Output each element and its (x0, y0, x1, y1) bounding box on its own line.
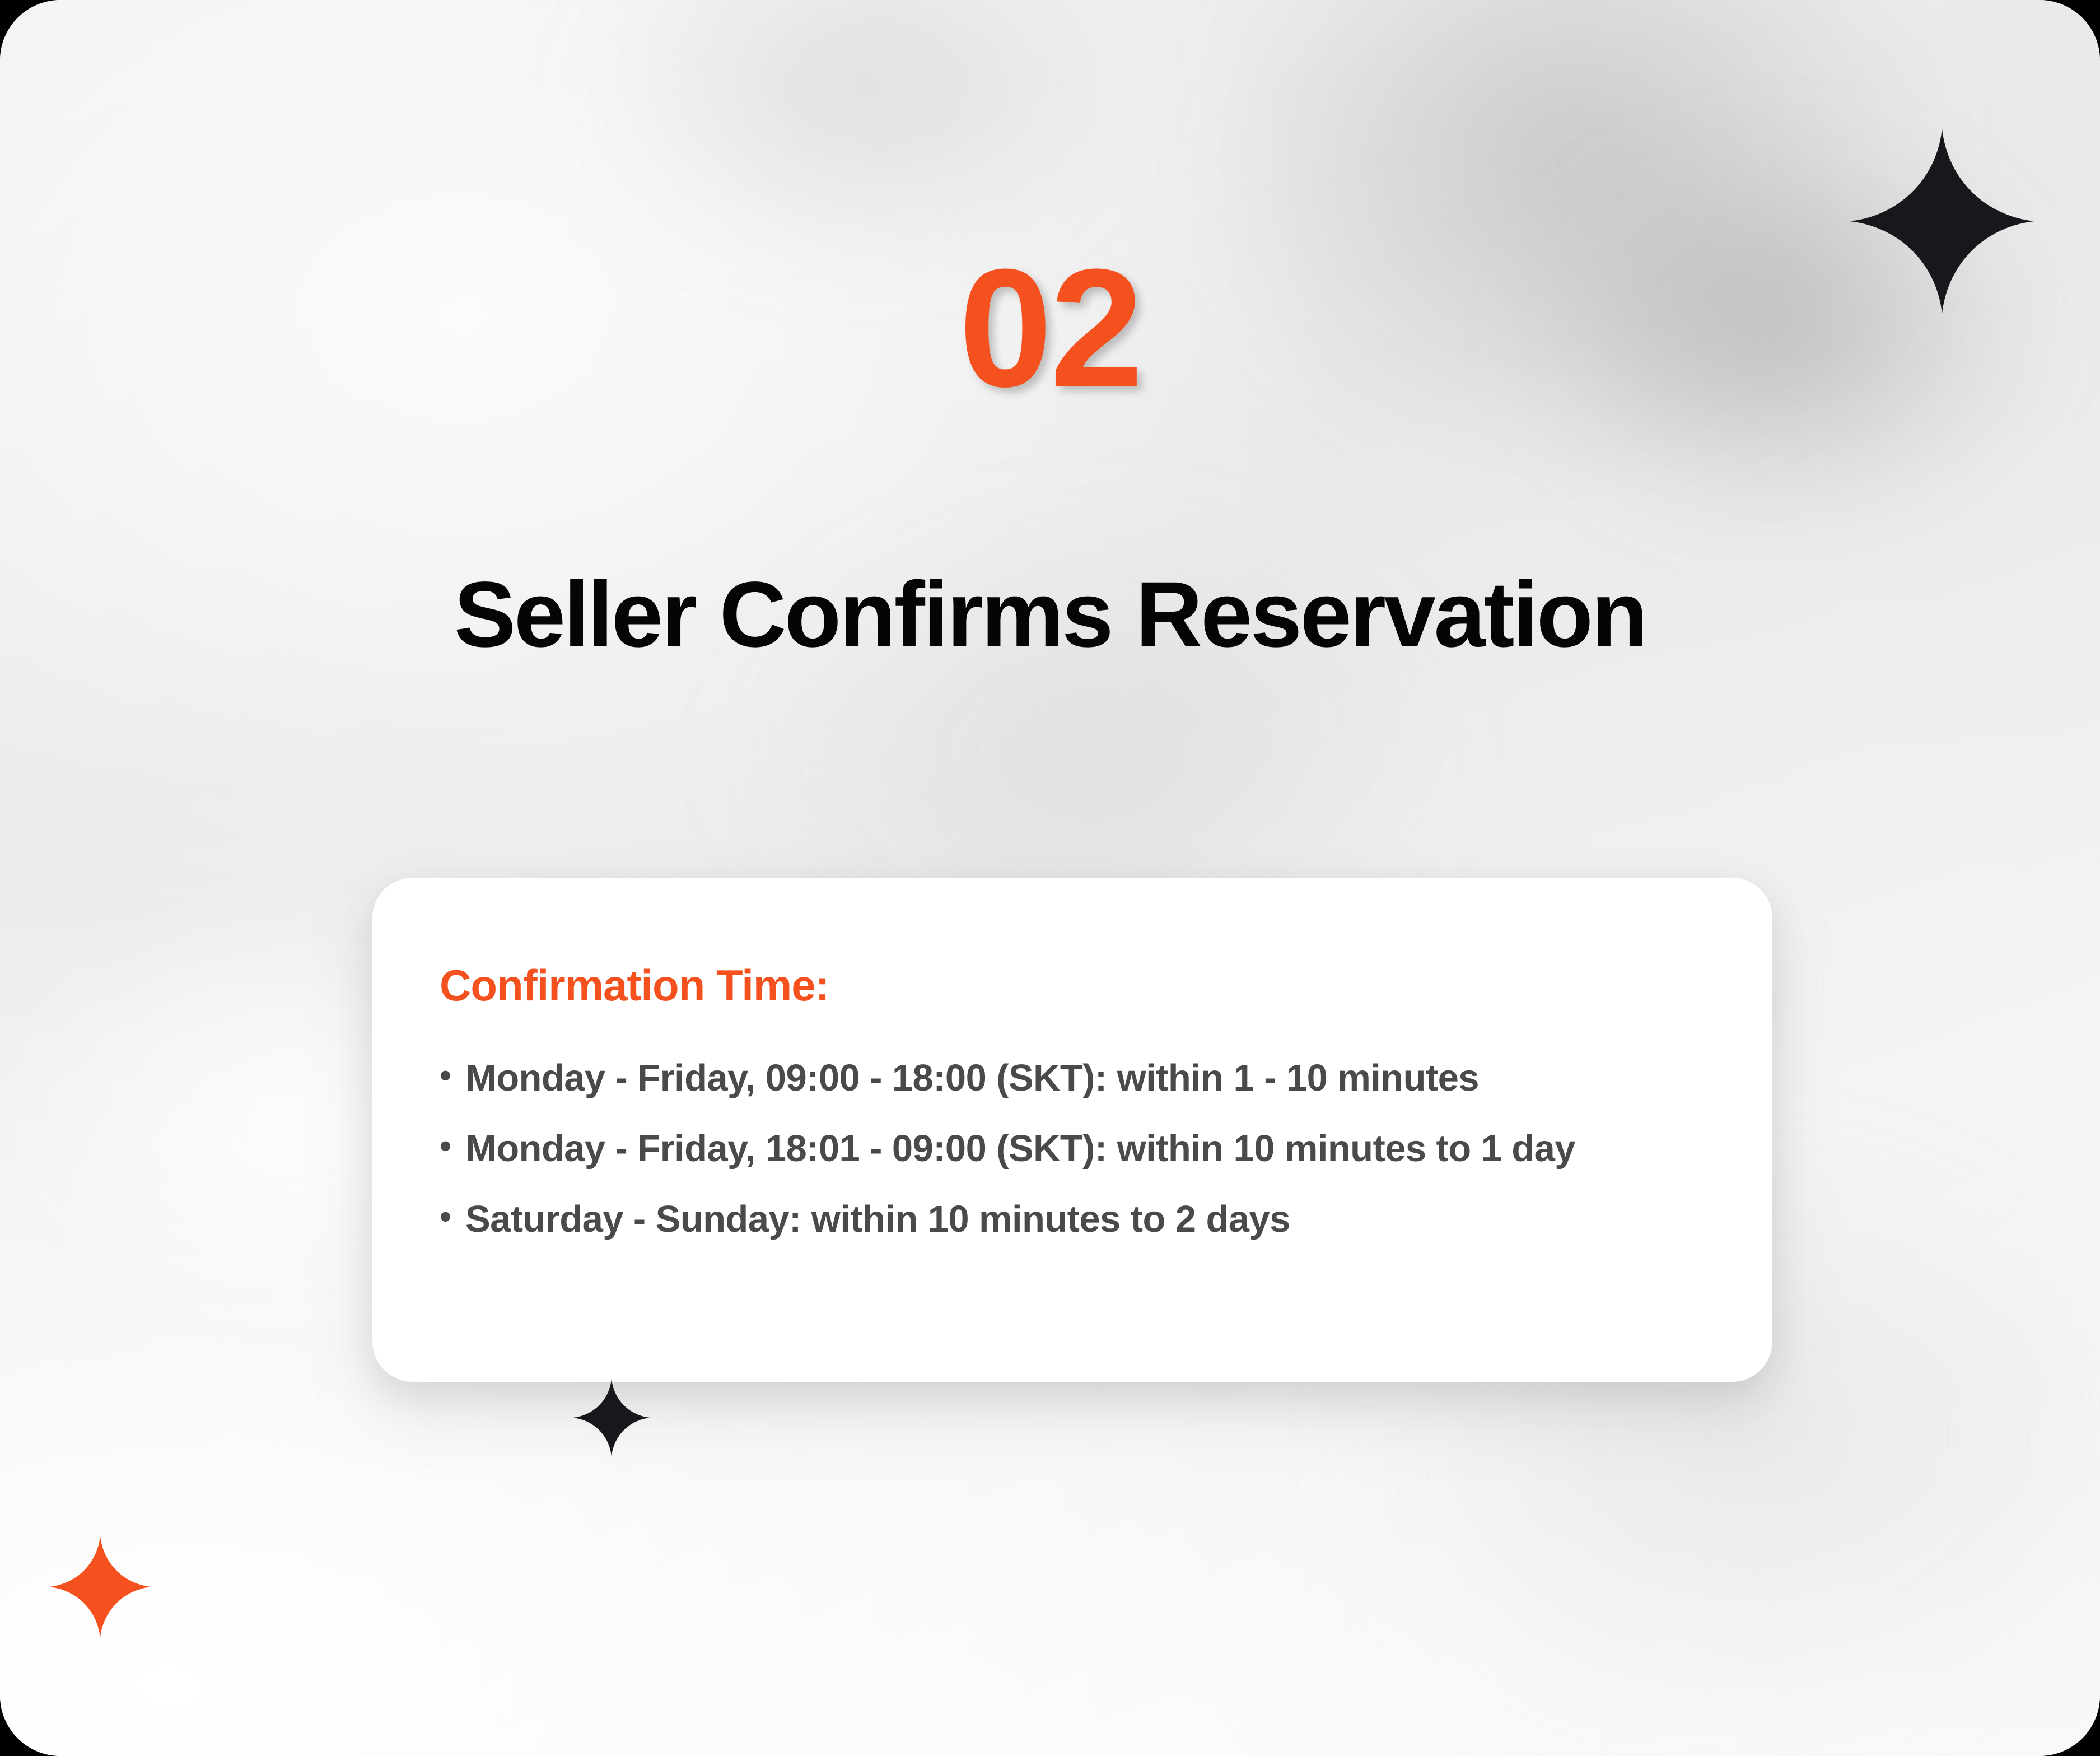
list-item-label: Monday - Friday, 18:01 - 09:00 (SKT): wi… (465, 1125, 1575, 1172)
bullet-icon: • (440, 1125, 459, 1167)
step-number: 02 (0, 244, 2100, 412)
list-item-label: Saturday - Sunday: within 10 minutes to … (465, 1196, 1290, 1242)
page-title: Seller Confirms Reservation (0, 566, 2100, 664)
list-item-label: Monday - Friday, 09:00 - 18:00 (SKT): wi… (465, 1055, 1479, 1101)
sparkle-icon-bottom-left (49, 1532, 151, 1642)
card-heading: Confirmation Time: (440, 962, 1705, 1010)
sparkle-icon-card-bottom (573, 1375, 650, 1460)
list-item: • Saturday - Sunday: within 10 minutes t… (440, 1196, 1705, 1242)
slide-frame: 02 Seller Confirms Reservation Confirmat… (0, 0, 2100, 1756)
confirmation-time-card: Confirmation Time: • Monday - Friday, 09… (372, 878, 1772, 1382)
schedule-list: • Monday - Friday, 09:00 - 18:00 (SKT): … (440, 1055, 1705, 1242)
bullet-icon: • (440, 1196, 459, 1237)
list-item: • Monday - Friday, 18:01 - 09:00 (SKT): … (440, 1125, 1705, 1172)
list-item: • Monday - Friday, 09:00 - 18:00 (SKT): … (440, 1055, 1705, 1101)
bullet-icon: • (440, 1055, 459, 1096)
